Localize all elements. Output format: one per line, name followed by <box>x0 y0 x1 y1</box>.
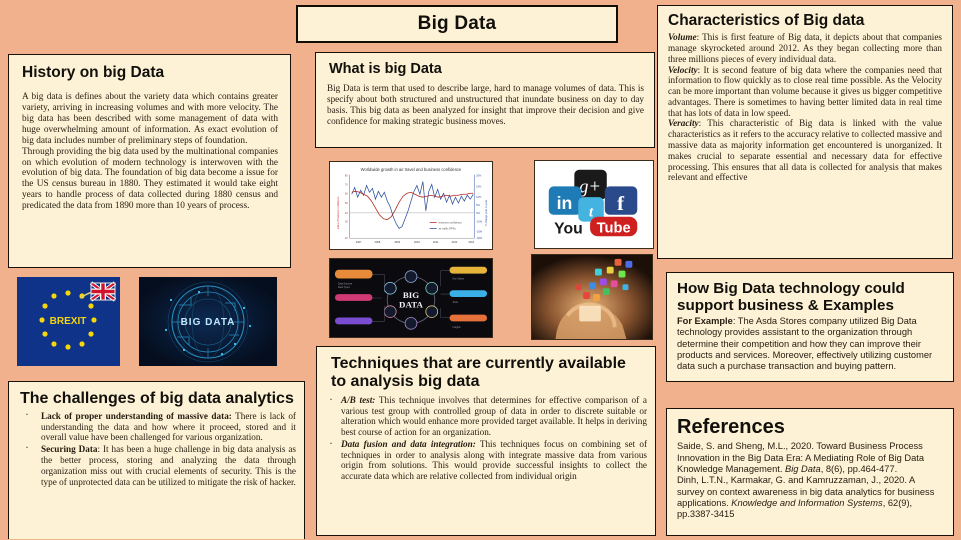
svg-text:Data Types: Data Types <box>338 286 351 289</box>
svg-text:Tools: Tools <box>452 302 458 304</box>
technique-text: This technique involves that determines … <box>341 395 647 437</box>
technique-item: A/B test: This technique involves that d… <box>325 395 647 438</box>
references-section: References Saide, S. and Sheng, M.L., 20… <box>666 408 954 536</box>
challenge-item: Securing Data: It has been a huge challe… <box>15 444 296 487</box>
characteristics-section: Characteristics of Big data Volume: This… <box>657 5 953 259</box>
techniques-heading: Techniques that are currently available … <box>331 355 645 391</box>
svg-text:in: in <box>557 193 573 213</box>
how-big-data-supports-business-section: How Big Data technology could support bu… <box>666 272 954 382</box>
svg-text:f: f <box>617 193 625 215</box>
reference-entry: Saide, S. and Sheng, M.L., 2020. Toward … <box>677 441 943 475</box>
what-is-body: Big Data is term that used to describe l… <box>327 83 644 126</box>
reference-entry: Dinh, L.T.N., Karmakar, G. and Kamruzzam… <box>677 475 943 520</box>
technique-term: A/B test: <box>341 395 375 405</box>
svg-text:2010: 2010 <box>414 240 420 244</box>
svg-text:-20%: -20% <box>476 229 483 233</box>
circuit-label: BIG DATA <box>181 317 236 328</box>
hand-icons-graphic <box>532 255 652 339</box>
brexit-label: BREXIT <box>50 316 87 327</box>
social-logos-graphic: g+ in f t You Tube <box>535 161 653 248</box>
history-paragraph-2: Through providing the big data used by t… <box>22 147 278 212</box>
characteristics-heading: Characteristics of Big data <box>668 12 952 29</box>
svg-text:You: You <box>554 220 583 237</box>
reference-journal: Big Data <box>785 464 821 474</box>
big-data-infographic-image: BIG DATA <box>329 258 493 338</box>
svg-text:10%: 10% <box>476 195 482 199</box>
how-support-body: For Example: The Asda Stores company uti… <box>677 316 941 373</box>
chart-legend-2: air traffic RPKs <box>439 226 457 230</box>
technique-term: Data fusion and data integration: <box>341 439 476 449</box>
brexit-flag-graphic: BREXIT <box>17 277 120 366</box>
svg-text:-10%: -10% <box>476 220 483 224</box>
history-paragraph-1: A big data is defines about the variety … <box>22 92 278 146</box>
youtube-icon: You Tube <box>554 217 637 238</box>
svg-text:Tube: Tube <box>597 220 631 236</box>
big-data-circuit-sphere-image: BIG DATA <box>139 277 277 366</box>
big-data-poster: Big Data History on big Data A big data … <box>0 0 961 540</box>
characteristic-text: : It is second feature of big data where… <box>668 65 942 118</box>
svg-text:2007: 2007 <box>356 240 362 244</box>
characteristic-text: : This characteristic of Big data is lin… <box>668 118 942 182</box>
how-support-heading: How Big Data technology could support bu… <box>677 280 953 314</box>
characteristic-term: Volume <box>668 32 697 42</box>
history-heading: History on big Data <box>22 64 290 81</box>
characteristics-body: Volume: This is first feature of Big dat… <box>668 32 942 183</box>
chart-title: Worldwide growth in air travel and busin… <box>361 167 462 172</box>
svg-text:2012: 2012 <box>452 240 458 244</box>
challenges-list: Lack of proper understanding of massive … <box>15 411 296 487</box>
infographic-graphic: BIG DATA <box>330 259 492 337</box>
svg-text:2011: 2011 <box>433 240 439 244</box>
what-is-heading: What is big Data <box>329 61 654 77</box>
techniques-section: Techniques that are currently available … <box>316 346 656 536</box>
challenges-heading: The challenges of big data analytics <box>20 390 294 408</box>
svg-text:15%: 15% <box>476 184 482 188</box>
characteristic-item: Velocity: It is second feature of big da… <box>668 65 942 119</box>
references-heading: References <box>677 416 953 438</box>
characteristic-term: Velocity <box>668 65 698 75</box>
infographic-label-line2: DATA <box>399 300 423 310</box>
svg-text:20%: 20% <box>476 174 482 178</box>
page-title: Big Data <box>418 13 497 34</box>
challenge-term: Lack of proper understanding of massive … <box>41 411 232 421</box>
how-support-lead: For Example <box>677 316 733 326</box>
poster-title-box: Big Data <box>296 5 618 43</box>
svg-text:-30%: -30% <box>476 236 483 240</box>
challenge-item: Lack of proper understanding of massive … <box>15 411 296 443</box>
svg-text:g+: g+ <box>579 176 601 197</box>
challenge-term: Securing Data <box>41 444 98 454</box>
references-body: Saide, S. and Sheng, M.L., 2020. Toward … <box>677 441 943 520</box>
reference-journal: Knowledge and Information Systems <box>731 498 882 508</box>
characteristic-item: Volume: This is first feature of Big dat… <box>668 32 942 64</box>
brexit-eu-flag-image: BREXIT <box>17 277 120 366</box>
facebook-icon: f <box>605 186 637 214</box>
history-body: A big data is defines about the variety … <box>22 92 278 212</box>
chart-legend-1: business confidence <box>439 221 463 225</box>
svg-text:Data Sources: Data Sources <box>338 282 353 285</box>
air-travel-business-confidence-chart-image: Worldwide growth in air travel and busin… <box>329 161 493 250</box>
svg-text:2013: 2013 <box>468 240 474 244</box>
circuit-sphere-graphic: BIG DATA <box>139 277 277 366</box>
svg-text:Key Values: Key Values <box>452 278 465 280</box>
line-chart-graphic: Worldwide growth in air travel and busin… <box>330 162 492 249</box>
svg-text:2009: 2009 <box>394 240 400 244</box>
characteristic-term: Veracity <box>668 118 699 128</box>
reference-pages: , 8(6), pp.464-477. <box>821 464 898 474</box>
chart-ylabel: index of business confidence <box>336 196 340 229</box>
chart-y2label: % change year on year <box>484 200 488 226</box>
techniques-list: A/B test: This technique involves that d… <box>325 395 647 482</box>
history-section: History on big Data A big data is define… <box>8 54 291 268</box>
infographic-label-line1: BIG <box>403 290 419 300</box>
svg-text:Insights: Insights <box>452 326 461 329</box>
social-media-logos-image: g+ in f t You Tube <box>534 160 654 249</box>
characteristic-item: Veracity: This characteristic of Big dat… <box>668 118 942 183</box>
what-is-big-data-section: What is big Data Big Data is term that u… <box>315 52 655 148</box>
linkedin-icon: in <box>549 186 581 214</box>
technique-item: Data fusion and data integration: This t… <box>325 439 647 482</box>
svg-text:2008: 2008 <box>375 240 381 244</box>
challenges-section: The challenges of big data analytics Lac… <box>8 381 305 539</box>
characteristic-text: : This is first feature of Big data, it … <box>668 32 942 64</box>
hand-holding-app-icons-image <box>531 254 653 340</box>
